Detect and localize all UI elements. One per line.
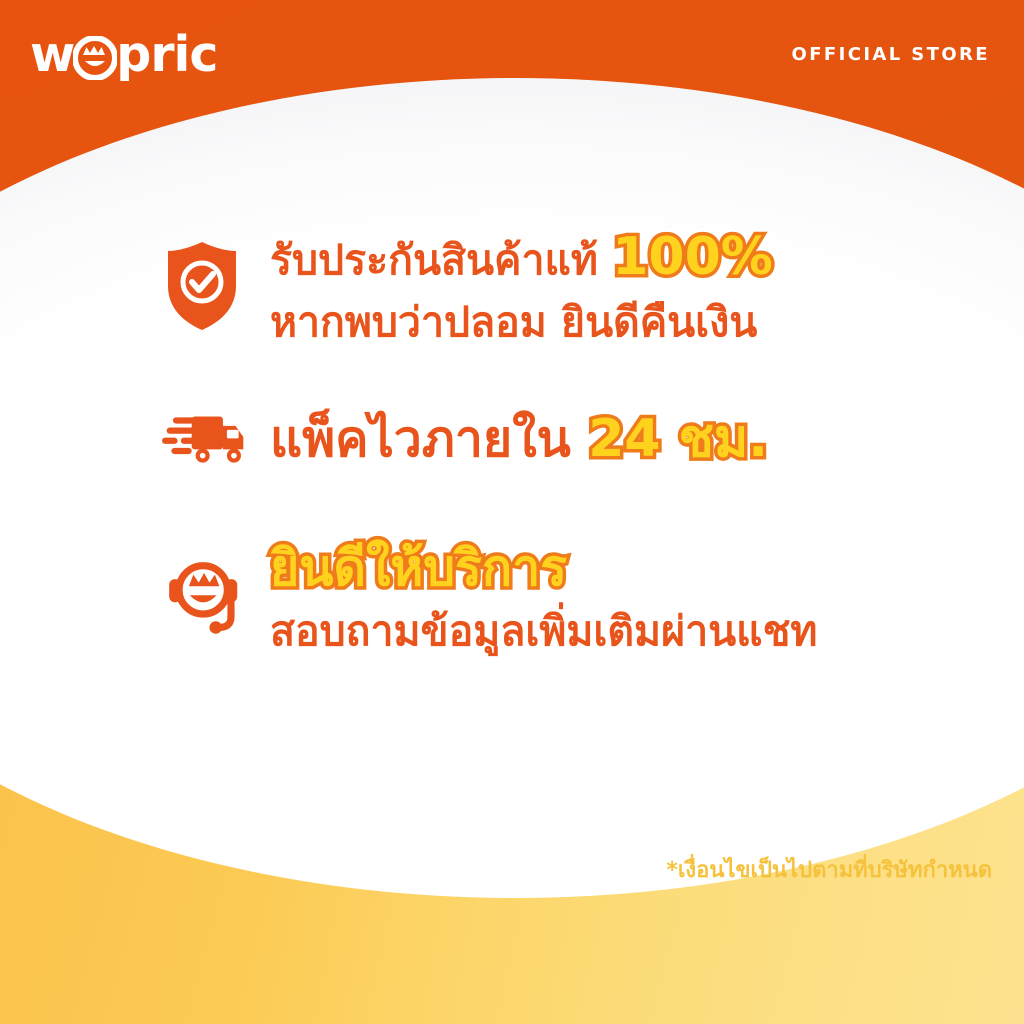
- feature-text-customer-service: ยินดีให้บริการ ยินดีให้บริการ สอบถามข้อม…: [248, 534, 817, 660]
- feature-line-plain: รับประกันสินค้าแท้: [270, 236, 598, 284]
- terms-footnote: *เงื่อนไขเป็นไปตามที่บริษัทกำหนด: [666, 852, 992, 887]
- brand-logo[interactable]: w pric: [30, 24, 217, 84]
- shield-check-icon: [162, 240, 248, 332]
- feature-list: รับประกันสินค้าแท้ 100% 100% หากพบว่าปลอ…: [0, 222, 1024, 660]
- highlight-fill: ยินดีให้บริการ: [270, 539, 567, 597]
- highlight-24-hours: 24 ชม. 24 ชม.: [588, 404, 768, 476]
- official-store-badge: OFFICIAL STORE: [792, 44, 990, 65]
- feature-row-fast-shipping: แพ็คไวภายใน 24 ชม. 24 ชม.: [0, 402, 1024, 478]
- logo-text-suffix: pric: [116, 30, 217, 79]
- highlight-fill: 24 ชม.: [588, 409, 768, 469]
- feature-row-warranty: รับประกันสินค้าแท้ 100% 100% หากพบว่าปลอ…: [0, 222, 1024, 350]
- promo-banner: w pric OFFICIAL STORE: [0, 0, 1024, 1024]
- feature-line: ยินดีให้บริการ ยินดีให้บริการ: [270, 534, 817, 603]
- feature-text-fast-shipping: แพ็คไวภายใน 24 ชม. 24 ชม.: [248, 404, 768, 476]
- feature-line-plain: แพ็คไวภายใน: [270, 410, 571, 468]
- highlight-100-percent: 100% 100%: [612, 222, 773, 294]
- fast-delivery-truck-icon: [162, 402, 248, 478]
- highlight-service-title: ยินดีให้บริการ ยินดีให้บริการ: [270, 534, 567, 603]
- feature-line: แพ็คไวภายใน 24 ชม. 24 ชม.: [270, 404, 768, 476]
- feature-subline: หากพบว่าปลอม ยินดีคืนเงิน: [270, 294, 773, 351]
- smiley-mascot-icon: [73, 36, 117, 80]
- feature-row-customer-service: ยินดีให้บริการ ยินดีให้บริการ สอบถามข้อม…: [0, 534, 1024, 660]
- logo-text-prefix: w: [30, 30, 74, 79]
- highlight-fill: 100%: [612, 227, 773, 287]
- banner-header: w pric OFFICIAL STORE: [0, 0, 1024, 108]
- feature-text-warranty: รับประกันสินค้าแท้ 100% 100% หากพบว่าปลอ…: [248, 222, 773, 350]
- feature-line: รับประกันสินค้าแท้ 100% 100%: [270, 222, 773, 294]
- customer-service-headset-icon: [162, 549, 248, 645]
- feature-subline: สอบถามข้อมูลเพิ่มเติมผ่านแชท: [270, 603, 817, 660]
